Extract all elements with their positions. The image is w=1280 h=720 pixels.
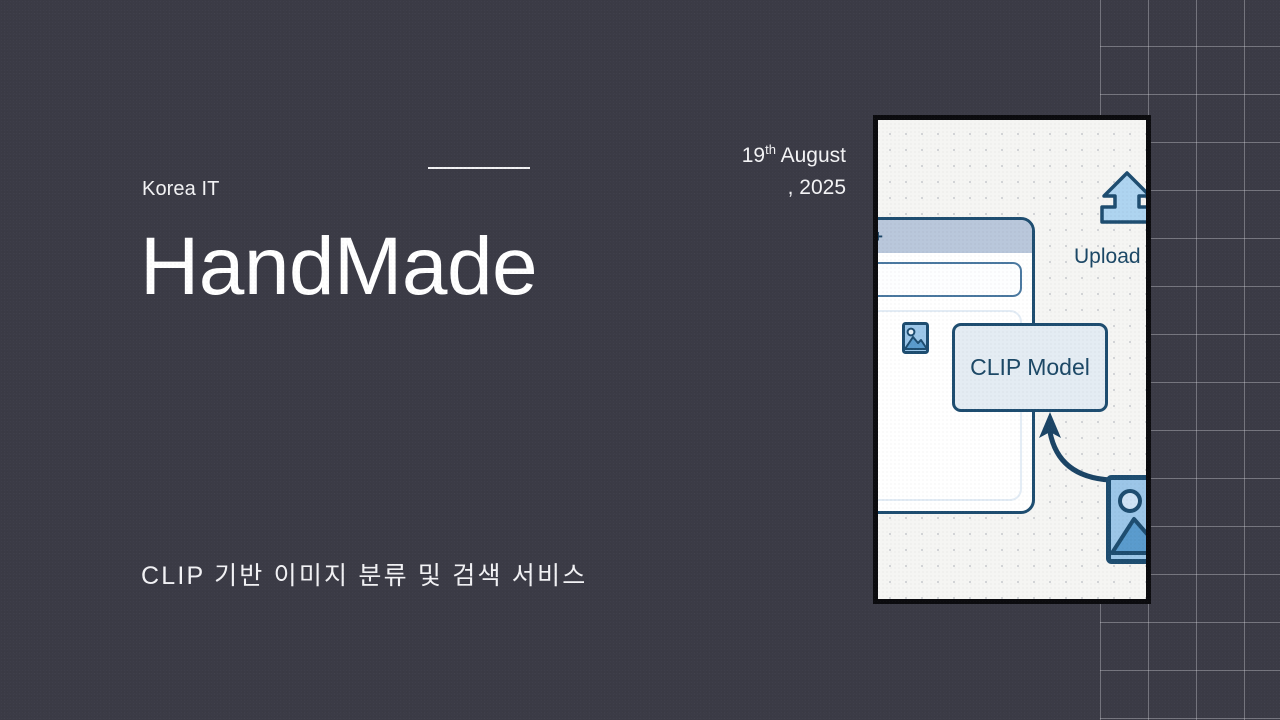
search-input[interactable]: xt... <box>873 262 1022 297</box>
curved-arrow-up-icon <box>1006 406 1116 498</box>
date-ordinal-suffix: th <box>765 142 776 157</box>
date-line-primary: 19th August <box>596 140 846 172</box>
upload-arrow-icon <box>1096 170 1151 226</box>
date-month: August <box>776 144 846 167</box>
date-day: 19 <box>742 144 765 167</box>
title-slide: Korea IT HandMade CLIP 기반 이미지 분류 및 검색 서비… <box>0 0 1280 720</box>
diagram-panel: + xt... CLIP Model Upload I <box>873 115 1151 604</box>
clip-model-node: CLIP Model <box>952 323 1108 412</box>
accent-rule <box>428 167 530 169</box>
app-card-header: + <box>873 220 1032 253</box>
subtitle-text: CLIP 기반 이미지 분류 및 검색 서비스 <box>141 556 587 592</box>
upload-label: Upload I <box>1074 245 1151 269</box>
date-block: 19th August , 2025 <box>596 140 846 203</box>
kicker-text: Korea IT <box>142 178 220 201</box>
date-line-secondary: , 2025 <box>596 172 846 204</box>
page-title: HandMade <box>140 225 537 309</box>
image-icon <box>902 322 929 354</box>
image-icon-large <box>1106 475 1151 564</box>
